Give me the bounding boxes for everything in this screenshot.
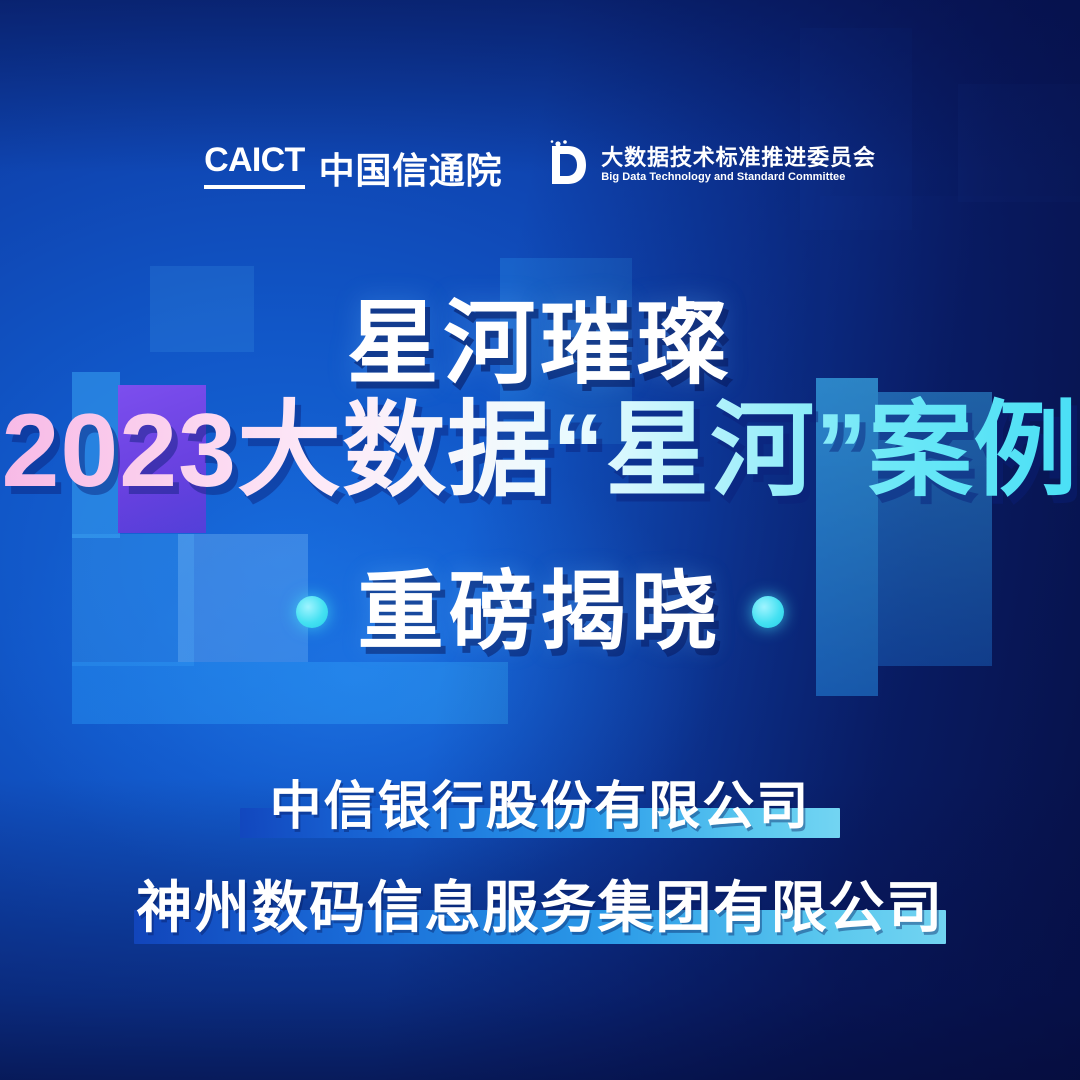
cyan-block-midleft (72, 662, 508, 724)
awardee-name: 中信银行股份有限公司 (270, 772, 811, 842)
bullet-dot-left-icon (296, 596, 328, 628)
title-line-2: 2023大数据“星河”案例 (0, 396, 1080, 506)
caict-acronym: CAICT (204, 141, 304, 180)
bdtsc-logo: 大数据技术标准推进委员会 Big Data Technology and Sta… (546, 140, 876, 190)
big-data-d-icon (546, 140, 588, 190)
title-line-1: 星河璀璨 (0, 296, 1080, 392)
awardee-name: 神州数码信息服务集团有限公司 (136, 868, 944, 948)
top-navy-block-a (800, 28, 912, 230)
bdtsc-english-name: Big Data Technology and Standard Committ… (601, 172, 876, 183)
awardee-item: 神州数码信息服务集团有限公司 (0, 868, 1080, 948)
caict-underline (204, 185, 304, 189)
awardee-list: 中信银行股份有限公司 神州数码信息服务集团有限公司 (0, 772, 1080, 948)
awardee-item: 中信银行股份有限公司 (0, 772, 1080, 842)
caict-chinese-name: 中国信通院 (319, 153, 503, 189)
title-line-3: 重磅揭晓 (358, 566, 723, 658)
caict-acronym-mark: CAICT (204, 141, 304, 189)
bdtsc-chinese-name: 大数据技术标准推进委员会 (601, 147, 876, 169)
bdtsc-text: 大数据技术标准推进委员会 Big Data Technology and Sta… (601, 147, 876, 183)
logo-bar: CAICT 中国信通院 大数据技术标准推进委员会 Big Data Techno… (0, 140, 1080, 190)
caict-logo: CAICT 中国信通院 (204, 141, 502, 189)
title-line-3-row: 重磅揭晓 (0, 566, 1080, 658)
bullet-dot-right-icon (752, 596, 784, 628)
poster-canvas: CAICT 中国信通院 大数据技术标准推进委员会 Big Data Techno… (0, 0, 1080, 1080)
